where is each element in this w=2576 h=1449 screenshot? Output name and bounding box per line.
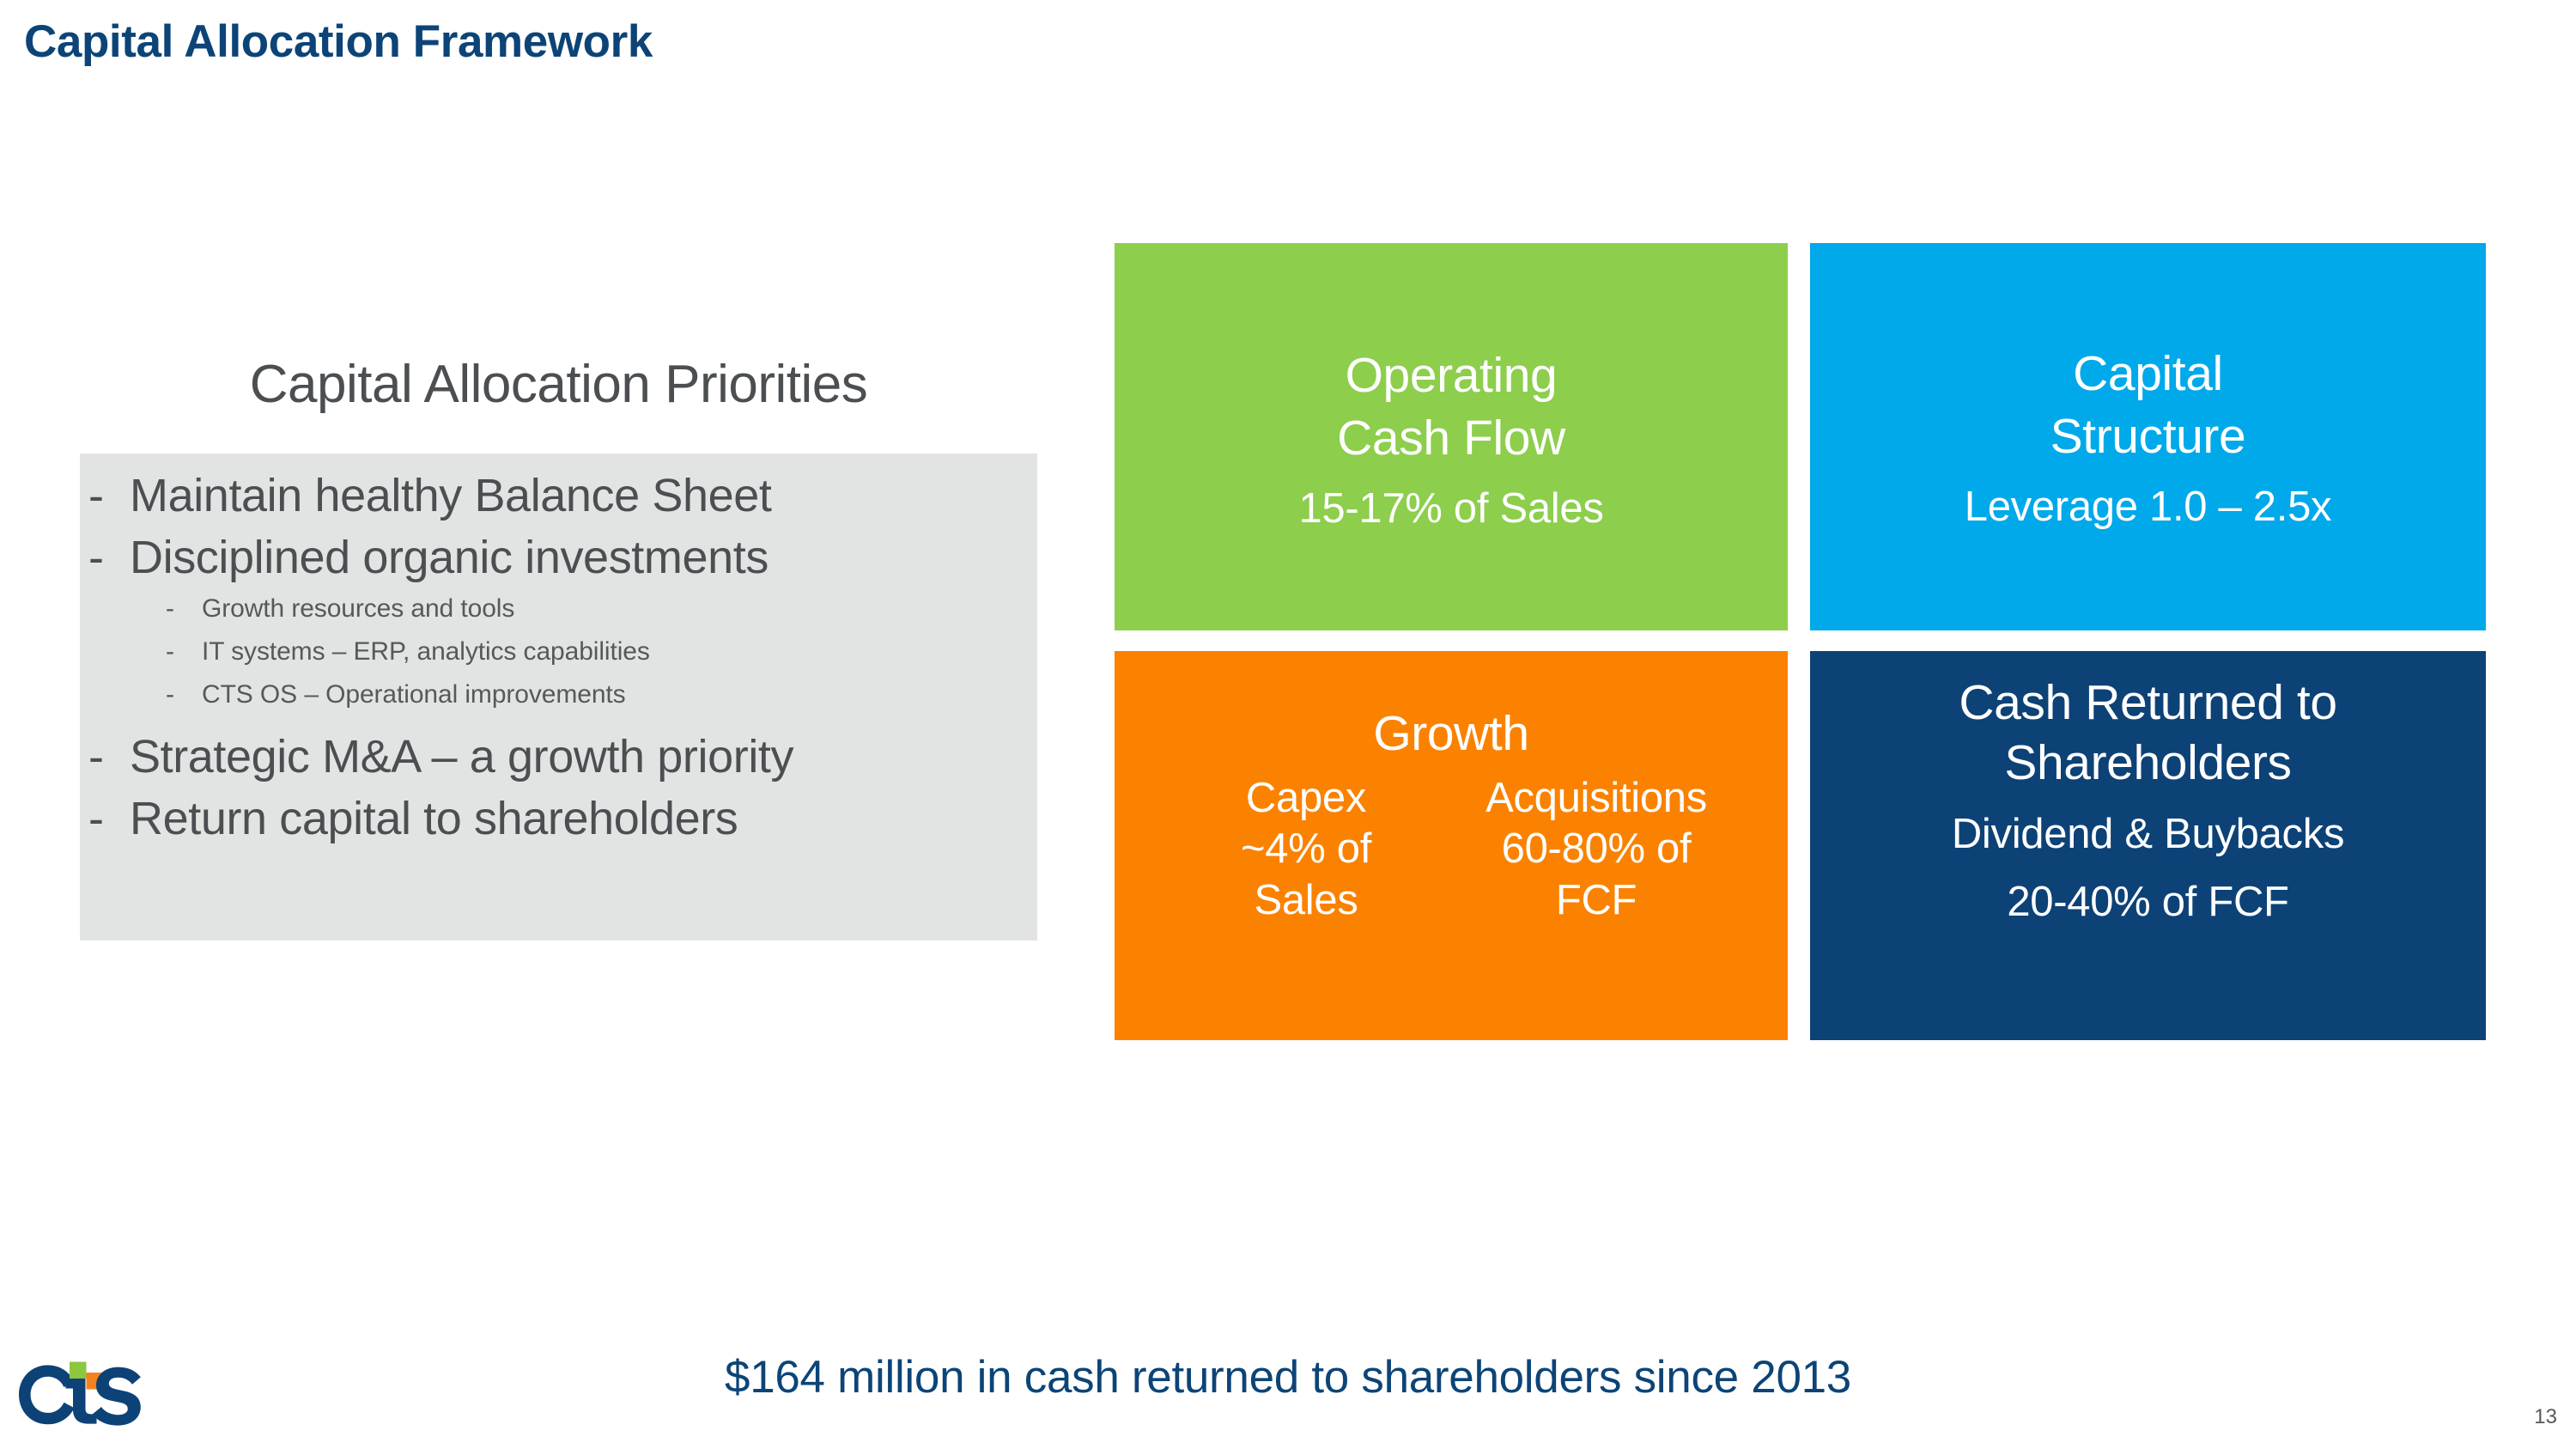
bullet-dash-icon: - xyxy=(166,682,202,708)
quadrant-title-line2: Structure xyxy=(2050,405,2246,468)
sub-list-item-label: CTS OS – Operational improvements xyxy=(202,682,626,708)
list-item-label: Maintain healthy Balance Sheet xyxy=(130,472,1037,519)
sub-list-item-label: Growth resources and tools xyxy=(202,596,514,622)
bullet-dash-icon: - xyxy=(88,795,130,842)
list-item-label: Disciplined organic investments xyxy=(130,534,1037,581)
list-item: - Strategic M&A – a growth priority xyxy=(80,734,1037,780)
list-item-label: Strategic M&A – a growth priority xyxy=(130,734,1037,780)
sub-list-item: - CTS OS – Operational improvements xyxy=(80,682,1037,708)
growth-capex-label: Capex xyxy=(1177,773,1435,825)
quadrant-title-line1: Operating xyxy=(1346,344,1558,407)
page-title: Capital Allocation Framework xyxy=(24,15,653,68)
bullet-dash-icon: - xyxy=(166,596,202,622)
quadrant-title-line1: Cash Returned to xyxy=(1959,673,2336,734)
growth-acquisitions-line2: 60-80% of xyxy=(1467,824,1725,875)
growth-column-capex: Capex ~4% of Sales xyxy=(1177,773,1435,927)
growth-acquisitions-label: Acquisitions xyxy=(1467,773,1725,825)
page-number: 13 xyxy=(2534,1405,2557,1429)
footer-caption: $164 million in cash returned to shareho… xyxy=(0,1351,2576,1403)
quadrant-growth: Growth Capex ~4% of Sales Acquisitions 6… xyxy=(1115,651,1788,1040)
sub-list-item: - IT systems – ERP, analytics capabiliti… xyxy=(80,639,1037,665)
bullet-dash-icon: - xyxy=(166,639,202,665)
quadrant-detail-line2: 20-40% of FCF xyxy=(2007,876,2288,928)
cts-logo xyxy=(19,1355,169,1434)
list-item: - Return capital to shareholders xyxy=(80,795,1037,842)
quadrant-detail: Leverage 1.0 – 2.5x xyxy=(1965,482,2331,533)
cts-logo-icon xyxy=(19,1355,169,1434)
growth-acquisitions-line3: FCF xyxy=(1467,875,1725,927)
quadrant-detail: 15-17% of Sales xyxy=(1298,484,1603,535)
priorities-heading: Capital Allocation Priorities xyxy=(80,354,1037,415)
bullet-dash-icon: - xyxy=(88,734,130,780)
quadrant-capital-structure: Capital Structure Leverage 1.0 – 2.5x xyxy=(1810,243,2486,630)
list-item: - Disciplined organic investments xyxy=(80,534,1037,581)
slide-canvas: Capital Allocation Framework Capital All… xyxy=(0,0,2576,1449)
growth-capex-line2: ~4% of xyxy=(1177,824,1435,875)
growth-capex-line3: Sales xyxy=(1177,875,1435,927)
quadrant-title-line1: Capital xyxy=(2073,343,2223,405)
sub-list-item-label: IT systems – ERP, analytics capabilities xyxy=(202,639,650,665)
quadrant-operating-cash-flow: Operating Cash Flow 15-17% of Sales xyxy=(1115,243,1788,630)
growth-columns: Capex ~4% of Sales Acquisitions 60-80% o… xyxy=(1115,773,1788,927)
list-item: - Maintain healthy Balance Sheet xyxy=(80,472,1037,519)
bullet-dash-icon: - xyxy=(88,534,130,581)
priorities-panel: - Maintain healthy Balance Sheet - Disci… xyxy=(80,454,1037,941)
quadrant-title: Growth xyxy=(1373,704,1528,764)
bullet-dash-icon: - xyxy=(88,472,130,519)
quadrant-title-line2: Shareholders xyxy=(2004,734,2291,794)
sub-list: - Growth resources and tools - IT system… xyxy=(80,596,1037,708)
quadrant-cash-returned-to-shareholders: Cash Returned to Shareholders Dividend &… xyxy=(1810,651,2486,1040)
quadrant-detail-line1: Dividend & Buybacks xyxy=(1952,808,2344,861)
sub-list-item: - Growth resources and tools xyxy=(80,596,1037,622)
quadrant-title-line2: Cash Flow xyxy=(1337,407,1565,470)
list-item-label: Return capital to shareholders xyxy=(130,795,1037,842)
growth-column-acquisitions: Acquisitions 60-80% of FCF xyxy=(1467,773,1725,927)
